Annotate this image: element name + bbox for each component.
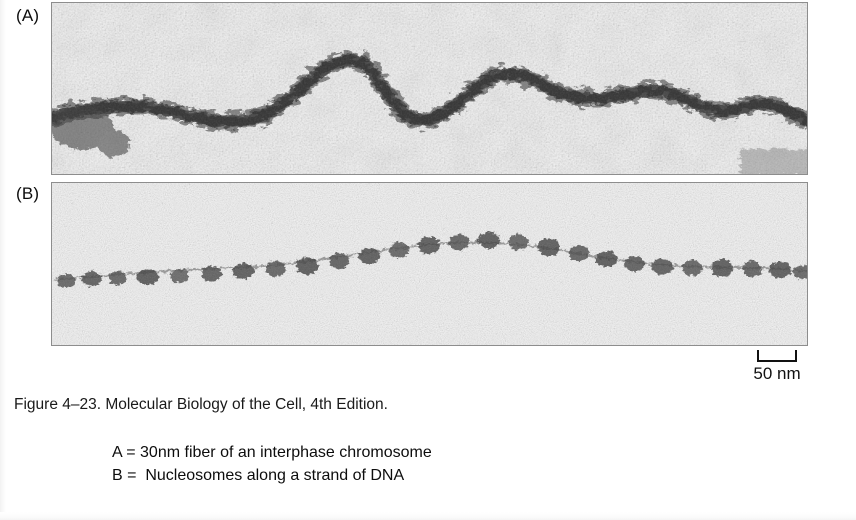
panel-label-b: (B): [16, 184, 39, 204]
page-bottom-edge: [0, 512, 856, 520]
panel-label-a: (A): [16, 6, 39, 26]
legend-note-b: B = Nucleosomes along a strand of DNA: [112, 467, 404, 485]
micrograph-panel-a: [51, 2, 808, 175]
micrograph-panel-b: [51, 182, 808, 346]
scale-bar-label: 50 nm: [735, 364, 819, 384]
scale-bar-bracket-icon: [757, 350, 797, 362]
scale-bar: 50 nm: [735, 346, 845, 396]
legend-note-a: A = 30nm fiber of an interphase chromoso…: [112, 444, 432, 462]
micrograph-image-a: [52, 3, 807, 174]
figure-caption: Figure 4–23. Molecular Biology of the Ce…: [14, 396, 388, 414]
page-left-edge: [0, 0, 6, 520]
micrograph-image-b: [52, 183, 807, 345]
figure-page: (A): [0, 0, 856, 520]
